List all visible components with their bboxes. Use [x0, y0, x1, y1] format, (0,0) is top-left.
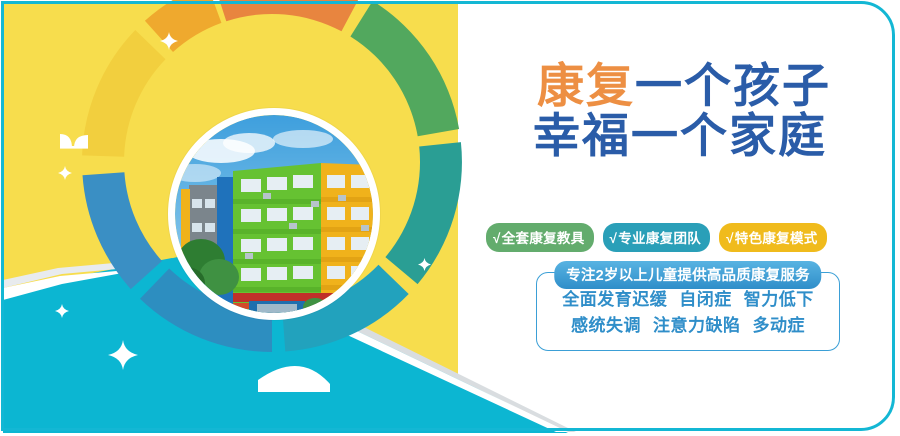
condition-attention-deficit: 注意力缺陷 — [653, 316, 741, 335]
condition-autism: 自闭症 — [679, 290, 732, 309]
headline-block: 康复一个孩子 幸福一个家庭 — [478, 62, 878, 162]
headline-highlight: 康复 — [537, 59, 635, 114]
feature-pill-teaching-aids-label: 全套康复教具 — [502, 231, 585, 246]
cloud-decoration-icon — [58, 132, 94, 150]
ring-segment-steel — [83, 172, 163, 289]
ring-segment-orange — [213, 0, 361, 31]
facility-photo — [168, 108, 380, 320]
ring-segment-amber — [145, 0, 222, 52]
ring-segment-gold — [82, 30, 165, 157]
check-mark-icon-3: √ — [726, 231, 734, 246]
feature-pill-teaching-aids[interactable]: √全套康复教具 — [486, 223, 594, 252]
facility-photo-image — [175, 115, 373, 313]
content-column: 康复一个孩子 幸福一个家庭 √全套康复教具 √专业康复团队 √特色康复模式 专注… — [478, 0, 900, 436]
condition-row-2: 感统失调注意力缺陷多动症 — [543, 313, 833, 339]
headline-line-1-rest: 一个孩子 — [635, 59, 831, 114]
feature-pill-team[interactable]: √专业康复团队 — [603, 223, 711, 252]
feature-pill-model[interactable]: √特色康复模式 — [719, 223, 827, 252]
headline-line-1: 康复一个孩子 — [490, 62, 878, 112]
feature-pill-team-label: 专业康复团队 — [618, 231, 701, 246]
sparkle-small-icon — [58, 166, 72, 180]
sparkle-large-icon — [108, 340, 138, 370]
condition-intellectual-disability: 智力低下 — [744, 290, 814, 309]
sparkle-medium-icon — [160, 32, 178, 50]
feature-pill-model-label: 特色康复模式 — [735, 231, 818, 246]
sparkle-small-icon-2 — [55, 304, 69, 318]
condition-sensory-integration: 感统失调 — [571, 316, 641, 335]
service-info-box: 专注2岁以上儿童提供高品质康复服务 全面发育迟缓自闭症智力低下 感统失调注意力缺… — [536, 272, 840, 351]
ring-segment-green — [350, 1, 459, 136]
condition-hyperactivity: 多动症 — [753, 316, 806, 335]
feature-pill-row: √全套康复教具 √专业康复团队 √特色康复模式 — [486, 223, 886, 252]
service-info-title: 专注2岁以上儿童提供高品质康复服务 — [554, 261, 821, 289]
check-mark-icon-2: √ — [610, 231, 618, 246]
headline-line-2: 幸福一个家庭 — [482, 112, 878, 162]
condition-developmental-delay: 全面发育迟缓 — [562, 290, 667, 309]
promo-banner: 康复一个孩子 幸福一个家庭 √全套康复教具 √专业康复团队 √特色康复模式 专注… — [0, 0, 900, 436]
condition-row-1: 全面发育迟缓自闭症智力低下 — [543, 287, 833, 313]
sparkle-small-icon-3 — [418, 258, 431, 271]
check-mark-icon: √ — [493, 231, 501, 246]
